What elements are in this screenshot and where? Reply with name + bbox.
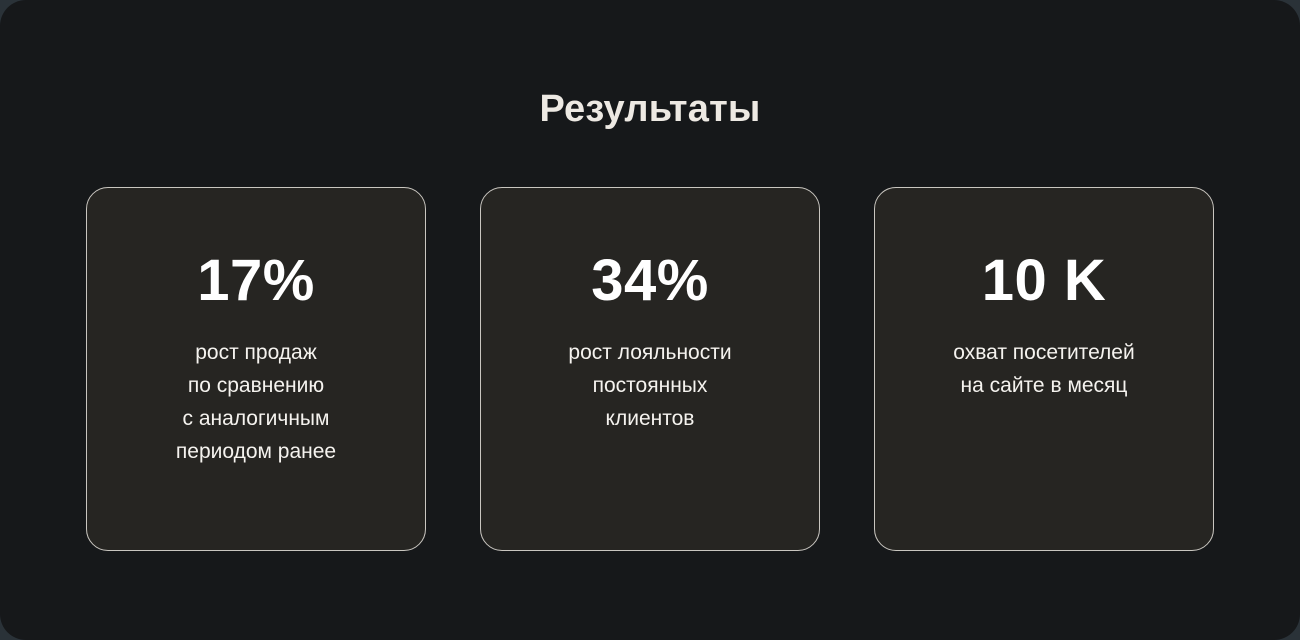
stat-value: 10 K bbox=[982, 250, 1107, 312]
stat-card-loyalty-growth: 34% рост лояльности постоянных клиентов bbox=[480, 187, 820, 551]
page-title: Результаты bbox=[0, 84, 1300, 134]
stat-cards-row: 17% рост продаж по сравнению с аналогичн… bbox=[86, 187, 1214, 551]
stat-caption: рост продаж по сравнению с аналогичным п… bbox=[106, 336, 406, 468]
stat-value: 34% bbox=[591, 250, 709, 312]
stat-card-monthly-reach: 10 K охват посетителей на сайте в месяц bbox=[874, 187, 1214, 551]
stat-caption: охват посетителей на сайте в месяц bbox=[894, 336, 1194, 402]
stat-caption: рост лояльности постоянных клиентов bbox=[500, 336, 800, 435]
stat-value: 17% bbox=[197, 250, 315, 312]
results-section: Результаты 17% рост продаж по сравнению … bbox=[0, 0, 1300, 640]
stat-card-sales-growth: 17% рост продаж по сравнению с аналогичн… bbox=[86, 187, 426, 551]
